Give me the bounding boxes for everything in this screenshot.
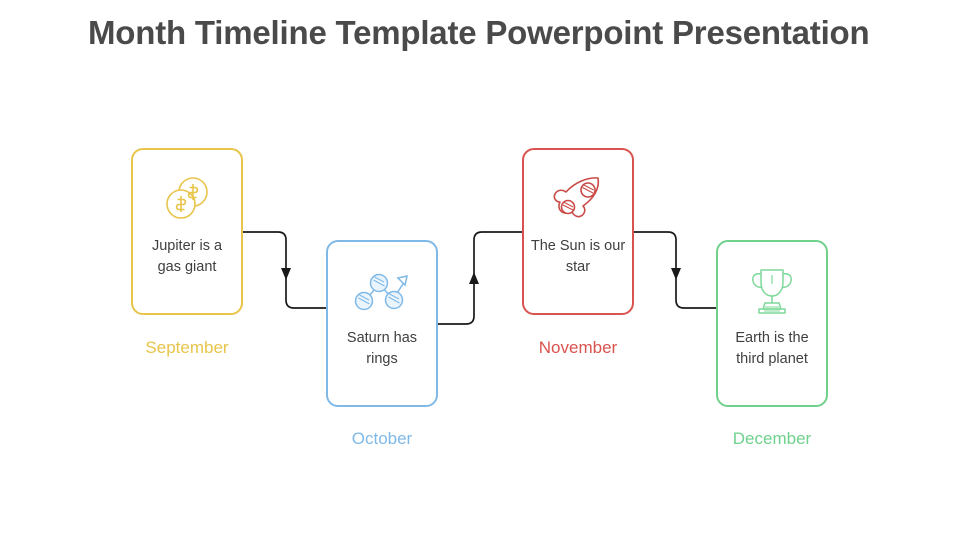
growth-chart-arrow-icon xyxy=(328,260,436,322)
timeline-card-november[interactable]: The Sun is our star xyxy=(522,148,634,315)
card-text-november: The Sun is our star xyxy=(530,236,626,278)
timeline-card-september[interactable]: Jupiter is a gas giant xyxy=(131,148,243,315)
slide-canvas: Month Timeline Template Powerpoint Prese… xyxy=(0,0,960,540)
timeline-card-october[interactable]: Saturn has rings xyxy=(326,240,438,407)
rocket-icon xyxy=(524,168,632,230)
connector-october-november xyxy=(438,232,522,324)
card-text-december: Earth is the third planet xyxy=(724,328,820,370)
trophy-icon xyxy=(718,260,826,322)
card-text-september: Jupiter is a gas giant xyxy=(139,236,235,278)
page-title: Month Timeline Template Powerpoint Prese… xyxy=(88,10,888,56)
connector-november-december xyxy=(634,232,716,308)
month-label-october: October xyxy=(306,428,458,450)
connector-september-october xyxy=(243,232,326,308)
month-label-november: November xyxy=(502,337,654,359)
month-label-december: December xyxy=(696,428,848,450)
coins-dollar-icon xyxy=(133,168,241,230)
timeline-card-december[interactable]: Earth is the third planet xyxy=(716,240,828,407)
month-label-september: September xyxy=(111,337,263,359)
card-text-october: Saturn has rings xyxy=(334,328,430,370)
